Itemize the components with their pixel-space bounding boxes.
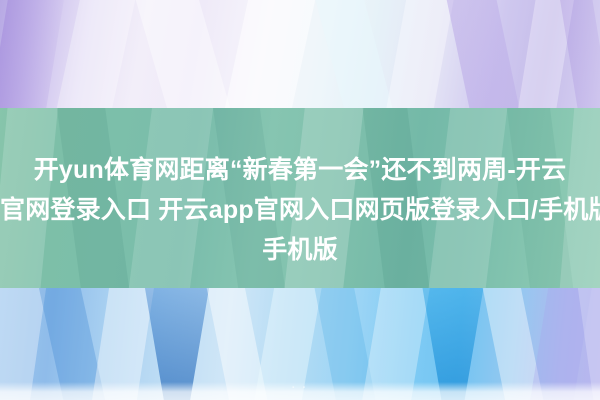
headline-line-1: 开yun体育网距离“新春第一会”还不到两周-开云 xyxy=(0,150,600,190)
band-top-facets xyxy=(0,0,600,108)
facet-shape xyxy=(0,288,48,400)
banner-image: 开yun体育网距离“新春第一会”还不到两周-开云 官网登录入口 开云app官网入… xyxy=(0,0,600,400)
facet-shape xyxy=(90,288,156,400)
background-band-top xyxy=(0,0,600,108)
facet-shape xyxy=(138,288,216,400)
facet-shape xyxy=(414,288,492,400)
facet-shape xyxy=(0,0,66,108)
facet-shape xyxy=(384,0,456,108)
facet-shape xyxy=(360,288,432,400)
facet-shape xyxy=(54,0,138,108)
facet-shape xyxy=(312,0,396,108)
headline-line-2: 官网登录入口 开云app官网入口网页版登录入口/手机版 xyxy=(0,190,600,230)
facet-shape xyxy=(132,0,234,108)
facet-shape xyxy=(252,288,324,400)
band-bottom-facets xyxy=(0,288,600,400)
facet-shape xyxy=(222,0,318,108)
headline-line-3: 手机版 xyxy=(0,230,600,270)
facet-shape xyxy=(444,0,522,108)
background-band-bottom xyxy=(0,288,600,400)
banner-headline: 开yun体育网距离“新春第一会”还不到两周-开云 官网登录入口 开云app官网入… xyxy=(0,150,600,270)
